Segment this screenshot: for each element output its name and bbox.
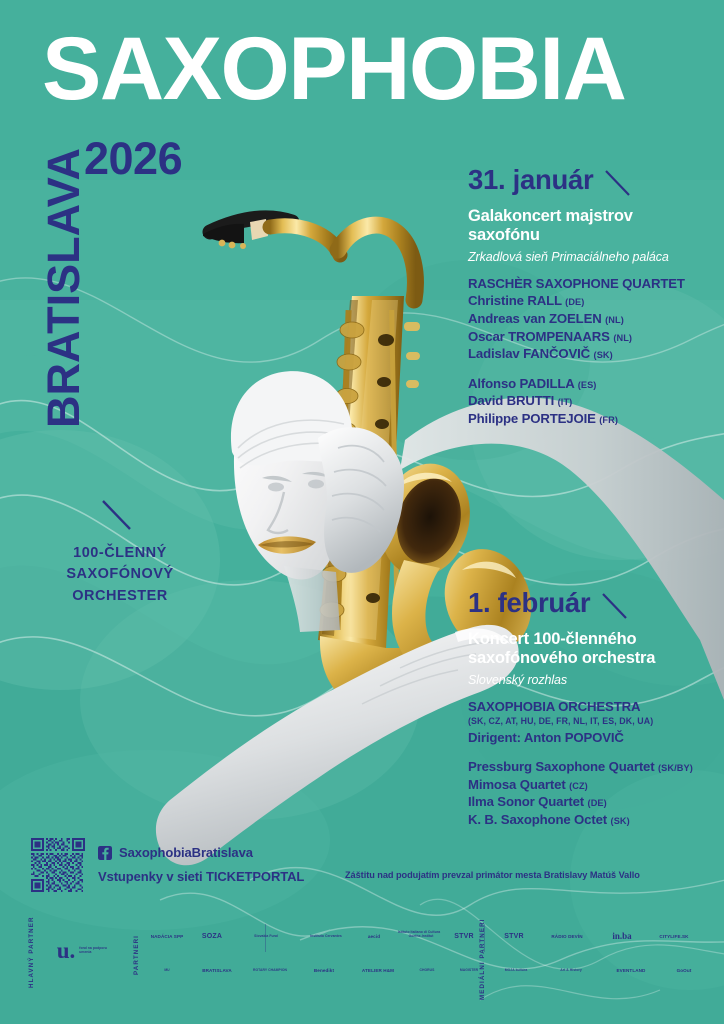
event-2-date: 1. február — [468, 589, 590, 617]
performer-name: Mimosa Quartet — [468, 777, 566, 792]
performer-country: (ES) — [578, 380, 597, 390]
facebook-handle[interactable]: SaxophobiaBratislava — [119, 845, 253, 860]
poster-root: SAXOPHOBIA 2026 BRATISLAVA 100-ČLENNÝ SA… — [0, 0, 724, 1024]
event-2-subtitle-line1: Koncert 100-členného — [468, 630, 718, 649]
facebook-row[interactable]: SaxophobiaBratislava — [98, 845, 253, 860]
performer-name: RASCHÈR SAXOPHONE QUARTET — [468, 276, 685, 291]
logo-media-partner: CITYLIFE.SK — [648, 924, 700, 950]
orchestra-tag-line2: SAXOFÓNOVÝ — [60, 564, 180, 585]
logo-partner: ROTARY CHAMPION — [248, 958, 292, 984]
logo-partner: BRATISLAVA — [192, 958, 242, 984]
event-1-subtitle-line2: saxofónu — [468, 226, 718, 245]
sponsor-bar: HLAVNÝ PARTNER PARTNERI MEDIÁLNI PARTNER… — [0, 900, 724, 1024]
event-1-group-1: RASCHÈR SAXOPHONE QUARTET Christine RALL… — [468, 275, 718, 363]
performer-name: David BRUTTI — [468, 393, 554, 408]
patronage-note: Záštitu nad podujatím prevzal primátor m… — [345, 870, 640, 880]
performer-country: (FR) — [599, 415, 618, 425]
event-2-venue: Slovenský rozhlas — [468, 673, 718, 687]
event-2-group-1: SAXOPHOBIA ORCHESTRA (SK, CZ, AT, HU, DE… — [468, 698, 718, 746]
performer-country: (DE) — [565, 297, 584, 307]
slash-decoration-orchestra — [100, 498, 134, 532]
performer-name: Alfonso PADILLA — [468, 376, 574, 391]
logo-partner-italian-institute: Istituto Italiano di Cultura — [392, 920, 446, 946]
logo-partner: ATELIER H&M — [352, 958, 404, 984]
performer-country: (DE) — [588, 798, 607, 808]
city-label: BRATISLAVA — [38, 138, 90, 438]
performer-country: (SK) — [594, 350, 613, 360]
performer-country: (SK/BY) — [658, 763, 693, 773]
logo-partner-stvr: STVR — [444, 924, 484, 950]
orchestra-tag-line3: ORCHESTER — [60, 586, 180, 607]
logo-media-partner: in.ba — [600, 924, 644, 950]
performer-row: Ilma Sonor Quartet (DE) — [468, 793, 718, 811]
event-1-date-row: 31. január — [468, 166, 718, 198]
performer-country: (CZ) — [569, 781, 588, 791]
logo-media-partner: Art & History — [544, 958, 598, 984]
orchestra-tag-line1: 100-ČLENNÝ — [60, 543, 180, 564]
logo-partner: SOZA — [192, 924, 232, 950]
logo-partner: Benedikt — [300, 958, 348, 984]
qr-code[interactable] — [31, 838, 85, 892]
event-2-group-2: Pressburg Saxophone Quartet (SK/BY) Mimo… — [468, 758, 718, 828]
logo-partner: CHORUS — [408, 958, 446, 984]
logo-partner: Slovakia Fund — [240, 924, 292, 950]
performer-row: Mimosa Quartet (CZ) — [468, 776, 718, 794]
performer-name: K. B. Saxophone Octet — [468, 812, 607, 827]
event-2-date-row: 1. február — [468, 589, 718, 621]
orchestra-tag: 100-ČLENNÝ SAXOFÓNOVÝ ORCHESTER — [60, 543, 180, 607]
logo-media-partner: STVR — [494, 924, 534, 950]
performer-name: Pressburg Saxophone Quartet — [468, 759, 654, 774]
logo-media-partner: RÁDIO DEVÍN — [538, 924, 596, 950]
performer-country: (IT) — [558, 397, 573, 407]
logo-media-partner: GoOut — [662, 958, 706, 984]
label-partners: PARTNERI — [133, 935, 140, 975]
facebook-icon[interactable] — [98, 846, 112, 860]
performer-name: Philippe PORTEJOIE — [468, 411, 596, 426]
event-1-date: 31. január — [468, 166, 593, 194]
event-1-subtitle: Galakoncert majstrov saxofónu — [468, 207, 718, 246]
performer-name: Ilma Sonor Quartet — [468, 794, 584, 809]
logo-media-partner: MOJA kultúra — [494, 958, 538, 984]
slash-decoration-date-2 — [600, 591, 630, 621]
performer-row: RASCHÈR SAXOPHONE QUARTET — [468, 275, 718, 293]
performer-name: Oscar TROMPENAARS — [468, 329, 610, 344]
event-2-subtitle: Koncert 100-členného saxofónového orches… — [468, 630, 718, 669]
performer-row: K. B. Saxophone Octet (SK) — [468, 811, 718, 829]
performer-row: Ladislav FANČOVIČ (SK) — [468, 345, 718, 363]
page-title: SAXOPHOBIA — [42, 26, 625, 111]
performer-name: SAXOPHOBIA ORCHESTRA — [468, 699, 640, 714]
performer-country: (NL) — [613, 333, 632, 343]
performer-row: Christine RALL (DE) — [468, 292, 718, 310]
performer-country: (NL) — [605, 315, 624, 325]
performer-name: Andreas van ZOELEN — [468, 311, 602, 326]
orchestra-countries: (SK, CZ, AT, HU, DE, FR, NL, IT, ES, DK,… — [468, 715, 718, 728]
performer-row: SAXOPHOBIA ORCHESTRA — [468, 698, 718, 716]
performer-name: Ladislav FANČOVIČ — [468, 346, 590, 361]
performer-row: David BRUTTI (IT) — [468, 392, 718, 410]
logo-partner: NADÁCIA SPP — [146, 924, 188, 950]
event-2-subtitle-line2: saxofónového orchestra — [468, 649, 718, 668]
logo-main-partner: u. fond na podporu umenia — [52, 934, 124, 968]
sponsor-divider-2 — [484, 924, 485, 952]
logo-partner: aecid — [356, 924, 392, 950]
event-1-group-2: Alfonso PADILLA (ES) David BRUTTI (IT) P… — [468, 375, 718, 428]
logo-media-partner: EVENTLAND — [602, 958, 660, 984]
logo-main-partner-mark: u. — [57, 939, 76, 963]
logo-partner: MAGISTER — [448, 958, 490, 984]
performer-row: Pressburg Saxophone Quartet (SK/BY) — [468, 758, 718, 776]
performer-row: Philippe PORTEJOIE (FR) — [468, 410, 718, 428]
performer-name: Christine RALL — [468, 293, 562, 308]
conductor-row: Dirigent: Anton POPOVIČ — [468, 729, 718, 747]
event-block-2: 1. február Koncert 100-členného saxofóno… — [468, 589, 718, 828]
performer-row: Oscar TROMPENAARS (NL) — [468, 328, 718, 346]
performer-row: Alfonso PADILLA (ES) — [468, 375, 718, 393]
performer-row: Andreas van ZOELEN (NL) — [468, 310, 718, 328]
year-label: 2026 — [84, 133, 182, 185]
performer-country: (SK) — [611, 816, 630, 826]
event-1-subtitle-line1: Galakoncert majstrov — [468, 207, 718, 226]
logo-main-partner-sub: fond na podporu umenia — [79, 947, 119, 954]
tickets-info: Vstupenky v sieti TICKETPORTAL — [98, 869, 304, 884]
event-1-venue: Zrkadlová sieň Primaciálneho paláca — [468, 250, 718, 264]
logo-partner: MU — [144, 958, 190, 984]
event-block-1: 31. január Galakoncert majstrov saxofónu… — [468, 166, 718, 427]
label-main-partner: HLAVNÝ PARTNER — [28, 916, 35, 988]
logo-partner: Instituto Cervantes — [300, 924, 352, 950]
slash-decoration-date-1 — [603, 168, 633, 198]
